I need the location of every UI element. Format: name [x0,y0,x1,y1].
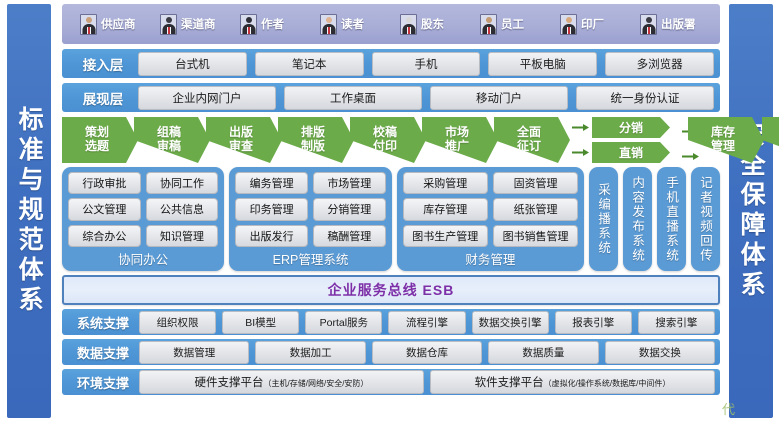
data-support-item[interactable]: 数据加工 [255,341,365,364]
process-step-line1: 市场 [445,126,469,140]
vertical-system-label: 内容发布系统 [628,176,647,263]
data-support-item[interactable]: 数据交换 [605,341,715,364]
process-step: 组稿审稿 [134,117,210,163]
access-layer-items: 台式机笔记本手机平板电脑多浏览器 [138,52,714,76]
access-layer-title: 接入层 [68,54,138,74]
stakeholder-item: 员工 [472,14,550,35]
stakeholder-item: 渠道商 [152,14,230,35]
stakeholder-item: 读者 [312,14,390,35]
module-item[interactable]: 出版发行 [235,225,308,247]
module-groups-row: 行政审批协同工作公文管理公共信息综合办公知识管理协同办公编务管理市场管理印务管理… [62,167,720,271]
module-item[interactable]: 稿酬管理 [313,225,386,247]
process-step: 全面征订 [494,117,570,163]
data-support-item[interactable]: 数据管理 [139,341,249,364]
presentation-layer-row: 展现层 企业内网门户工作桌面移动门户统一身份认证 [62,83,720,112]
module-item[interactable]: 库存管理 [403,198,488,220]
system-support-items: 组织权限BI模型Portal服务流程引擎数据交换引擎报表引擎搜索引擎 [139,311,715,334]
stakeholder-label: 员工 [501,16,524,32]
presentation-layer-items: 企业内网门户工作桌面移动门户统一身份认证 [138,86,714,110]
stakeholder-item: 供应商 [72,14,150,35]
person-icon [80,14,97,35]
standards-and-norms-system-label: 标准与规范体系 [16,106,42,316]
module-group-grid: 编务管理市场管理印务管理分销管理出版发行稿酬管理 [235,172,385,247]
environment-support-item-main: 硬件支撑平台 [195,377,264,389]
process-step: 市场推广 [422,117,498,163]
process-step-line2: 选题 [85,140,109,154]
process-step-line1: 排版 [301,126,325,140]
data-support-item[interactable]: 数据仓库 [372,341,482,364]
module-item[interactable]: 图书销售管理 [493,225,578,247]
module-group-grid: 行政审批协同工作公文管理公共信息综合办公知识管理 [68,172,218,247]
architecture-diagram: 标准与规范体系 安全保障体系 供应商渠道商作者读者股东员工印厂出版署 接入层 台… [0,0,779,422]
esb-bar: 企业服务总线 ESB [62,275,720,305]
module-group: 编务管理市场管理印务管理分销管理出版发行稿酬管理ERP管理系统 [229,167,391,271]
arrow-right-icon [682,148,700,157]
stakeholder-label: 读者 [341,16,364,32]
presentation-layer-item[interactable]: 工作桌面 [284,86,422,110]
presentation-layer-item[interactable]: 企业内网门户 [138,86,276,110]
data-support-items: 数据管理数据加工数据仓库数据质量数据交换 [139,341,715,364]
process-step-line1: 组稿 [157,126,181,140]
vertical-system-box[interactable]: 手机直播系统 [657,167,686,271]
environment-support-row: 环境支撑 硬件支撑平台（主机/存储/网络/安全/安防）软件支撑平台（虚拟化/操作… [62,369,720,395]
module-item[interactable]: 分销管理 [313,198,386,220]
system-support-item[interactable]: 搜索引擎 [638,311,715,334]
process-step: 策划选题 [62,117,138,163]
esb-label: 企业服务总线 ESB [328,280,455,300]
module-item[interactable]: 综合办公 [68,225,141,247]
stakeholder-item: 作者 [232,14,310,35]
module-group-grid: 采购管理固资管理库存管理纸张管理图书生产管理图书销售管理 [403,172,579,247]
process-step-line2: 管理 [711,140,735,154]
system-support-row: 系统支撑 组织权限BI模型Portal服务流程引擎数据交换引擎报表引擎搜索引擎 [62,309,720,335]
module-item[interactable]: 行政审批 [68,172,141,194]
module-group-label: 财务管理 [403,247,579,269]
vertical-system-box[interactable]: 采编播系统 [589,167,618,271]
environment-support-title: 环境支撑 [67,373,139,392]
process-step: 排版制版 [278,117,354,163]
access-layer-item[interactable]: 笔记本 [255,52,364,76]
process-step-line2: 审稿 [157,140,181,154]
environment-support-item[interactable]: 软件支撑平台（虚拟化/操作系统/数据库/中间件） [430,370,715,394]
person-icon [240,14,257,35]
data-support-row: 数据支撑 数据管理数据加工数据仓库数据质量数据交换 [62,339,720,365]
process-branch-row: 直销 [570,142,686,163]
system-support-item[interactable]: BI模型 [222,311,299,334]
system-support-item[interactable]: 流程引擎 [388,311,465,334]
process-step-line2: 制版 [301,140,325,154]
environment-support-item[interactable]: 硬件支撑平台（主机/存储/网络/安全/安防） [139,370,424,394]
stakeholder-label: 作者 [261,16,284,32]
module-group: 采购管理固资管理库存管理纸张管理图书生产管理图书销售管理财务管理 [397,167,585,271]
stakeholder-bar: 供应商渠道商作者读者股东员工印厂出版署 [62,4,720,44]
arrow-right-icon [572,123,590,132]
presentation-layer-title: 展现层 [68,88,138,108]
process-step-line1: 出版 [229,126,253,140]
module-item[interactable]: 固资管理 [493,172,578,194]
process-step-line1: 校稿 [373,126,397,140]
process-step-line2: 征订 [517,140,541,154]
vertical-system-label: 采编播系统 [594,183,613,256]
arrow-right-icon [572,148,590,157]
process-step-line2: 付印 [373,140,397,154]
standards-and-norms-system-bar: 标准与规范体系 [7,4,51,418]
vertical-system-box[interactable]: 内容发布系统 [623,167,652,271]
module-group-label: ERP管理系统 [235,247,385,269]
person-icon [560,14,577,35]
module-item[interactable]: 协同工作 [146,172,219,194]
access-layer-item[interactable]: 手机 [372,52,481,76]
data-support-title: 数据支撑 [67,343,139,362]
stakeholder-item: 印厂 [552,14,630,35]
process-branch: 直销 [592,142,670,163]
data-support-item[interactable]: 数据质量 [488,341,598,364]
process-step: 出版审查 [206,117,282,163]
module-item[interactable]: 编务管理 [235,172,308,194]
system-support-title: 系统支撑 [67,313,139,332]
environment-support-item-main: 软件支撑平台 [475,377,544,389]
presentation-layer-item[interactable]: 统一身份认证 [576,86,714,110]
module-item[interactable]: 图书生产管理 [403,225,488,247]
stakeholder-label: 印厂 [581,16,604,32]
process-branch-row: 分销 [570,117,686,138]
module-item[interactable]: 纸张管理 [493,198,578,220]
access-layer-item[interactable]: 台式机 [138,52,247,76]
process-step-line1: 库存 [711,126,735,140]
stakeholder-label: 出版署 [661,16,696,32]
process-step-line2: 审查 [229,140,253,154]
presentation-layer-item[interactable]: 移动门户 [430,86,568,110]
stakeholder-label: 供应商 [101,16,136,32]
system-support-item[interactable]: Portal服务 [305,311,382,334]
module-item[interactable]: 公共信息 [146,198,219,220]
vertical-system-box[interactable]: 记者视频回传 [691,167,720,271]
process-step: 校稿付印 [350,117,426,163]
security-assurance-system-bar: 安全保障体系 [729,4,773,418]
environment-support-items: 硬件支撑平台（主机/存储/网络/安全/安防）软件支撑平台（虚拟化/操作系统/数据… [139,370,715,394]
process-step-line1: 全面 [517,126,541,140]
module-item[interactable]: 市场管理 [313,172,386,194]
vertical-system-label: 记者视频回传 [696,176,715,263]
environment-support-item-sub: （主机/存储/网络/安全/安防） [264,379,369,388]
system-support-item[interactable]: 报表引擎 [555,311,632,334]
person-icon [480,14,497,35]
process-branch-group: 分销直销 [570,117,686,163]
system-support-item[interactable]: 数据交换引擎 [472,311,549,334]
person-icon [160,14,177,35]
person-icon [400,14,417,35]
process-step-line2: 推广 [445,140,469,154]
access-layer-item[interactable]: 平板电脑 [488,52,597,76]
main-column: 供应商渠道商作者读者股东员工印厂出版署 接入层 台式机笔记本手机平板电脑多浏览器… [62,4,720,418]
access-layer-row: 接入层 台式机笔记本手机平板电脑多浏览器 [62,49,720,78]
access-layer-item[interactable]: 多浏览器 [605,52,714,76]
module-item[interactable]: 印务管理 [235,198,308,220]
stakeholder-label: 股东 [421,16,444,32]
person-icon [640,14,657,35]
stakeholder-item: 出版署 [632,14,710,35]
vertical-system-label: 手机直播系统 [662,176,681,263]
system-support-item[interactable]: 组织权限 [139,311,216,334]
process-branch: 分销 [592,117,670,138]
stakeholder-label: 渠道商 [181,16,216,32]
module-group-label: 协同办公 [68,247,218,269]
process-flow-row: 策划选题组稿审稿出版审查排版制版校稿付印市场推广全面征订分销直销库存管理配送发运 [62,117,720,163]
module-item[interactable]: 采购管理 [403,172,488,194]
module-item[interactable]: 公文管理 [68,198,141,220]
module-group: 行政审批协同工作公文管理公共信息综合办公知识管理协同办公 [62,167,224,271]
watermark: 代 [722,399,735,418]
person-icon [320,14,337,35]
environment-support-item-sub: （虚拟化/操作系统/数据库/中间件） [544,379,671,388]
process-step-line1: 策划 [85,126,109,140]
stakeholder-item: 股东 [392,14,470,35]
module-item[interactable]: 知识管理 [146,225,219,247]
